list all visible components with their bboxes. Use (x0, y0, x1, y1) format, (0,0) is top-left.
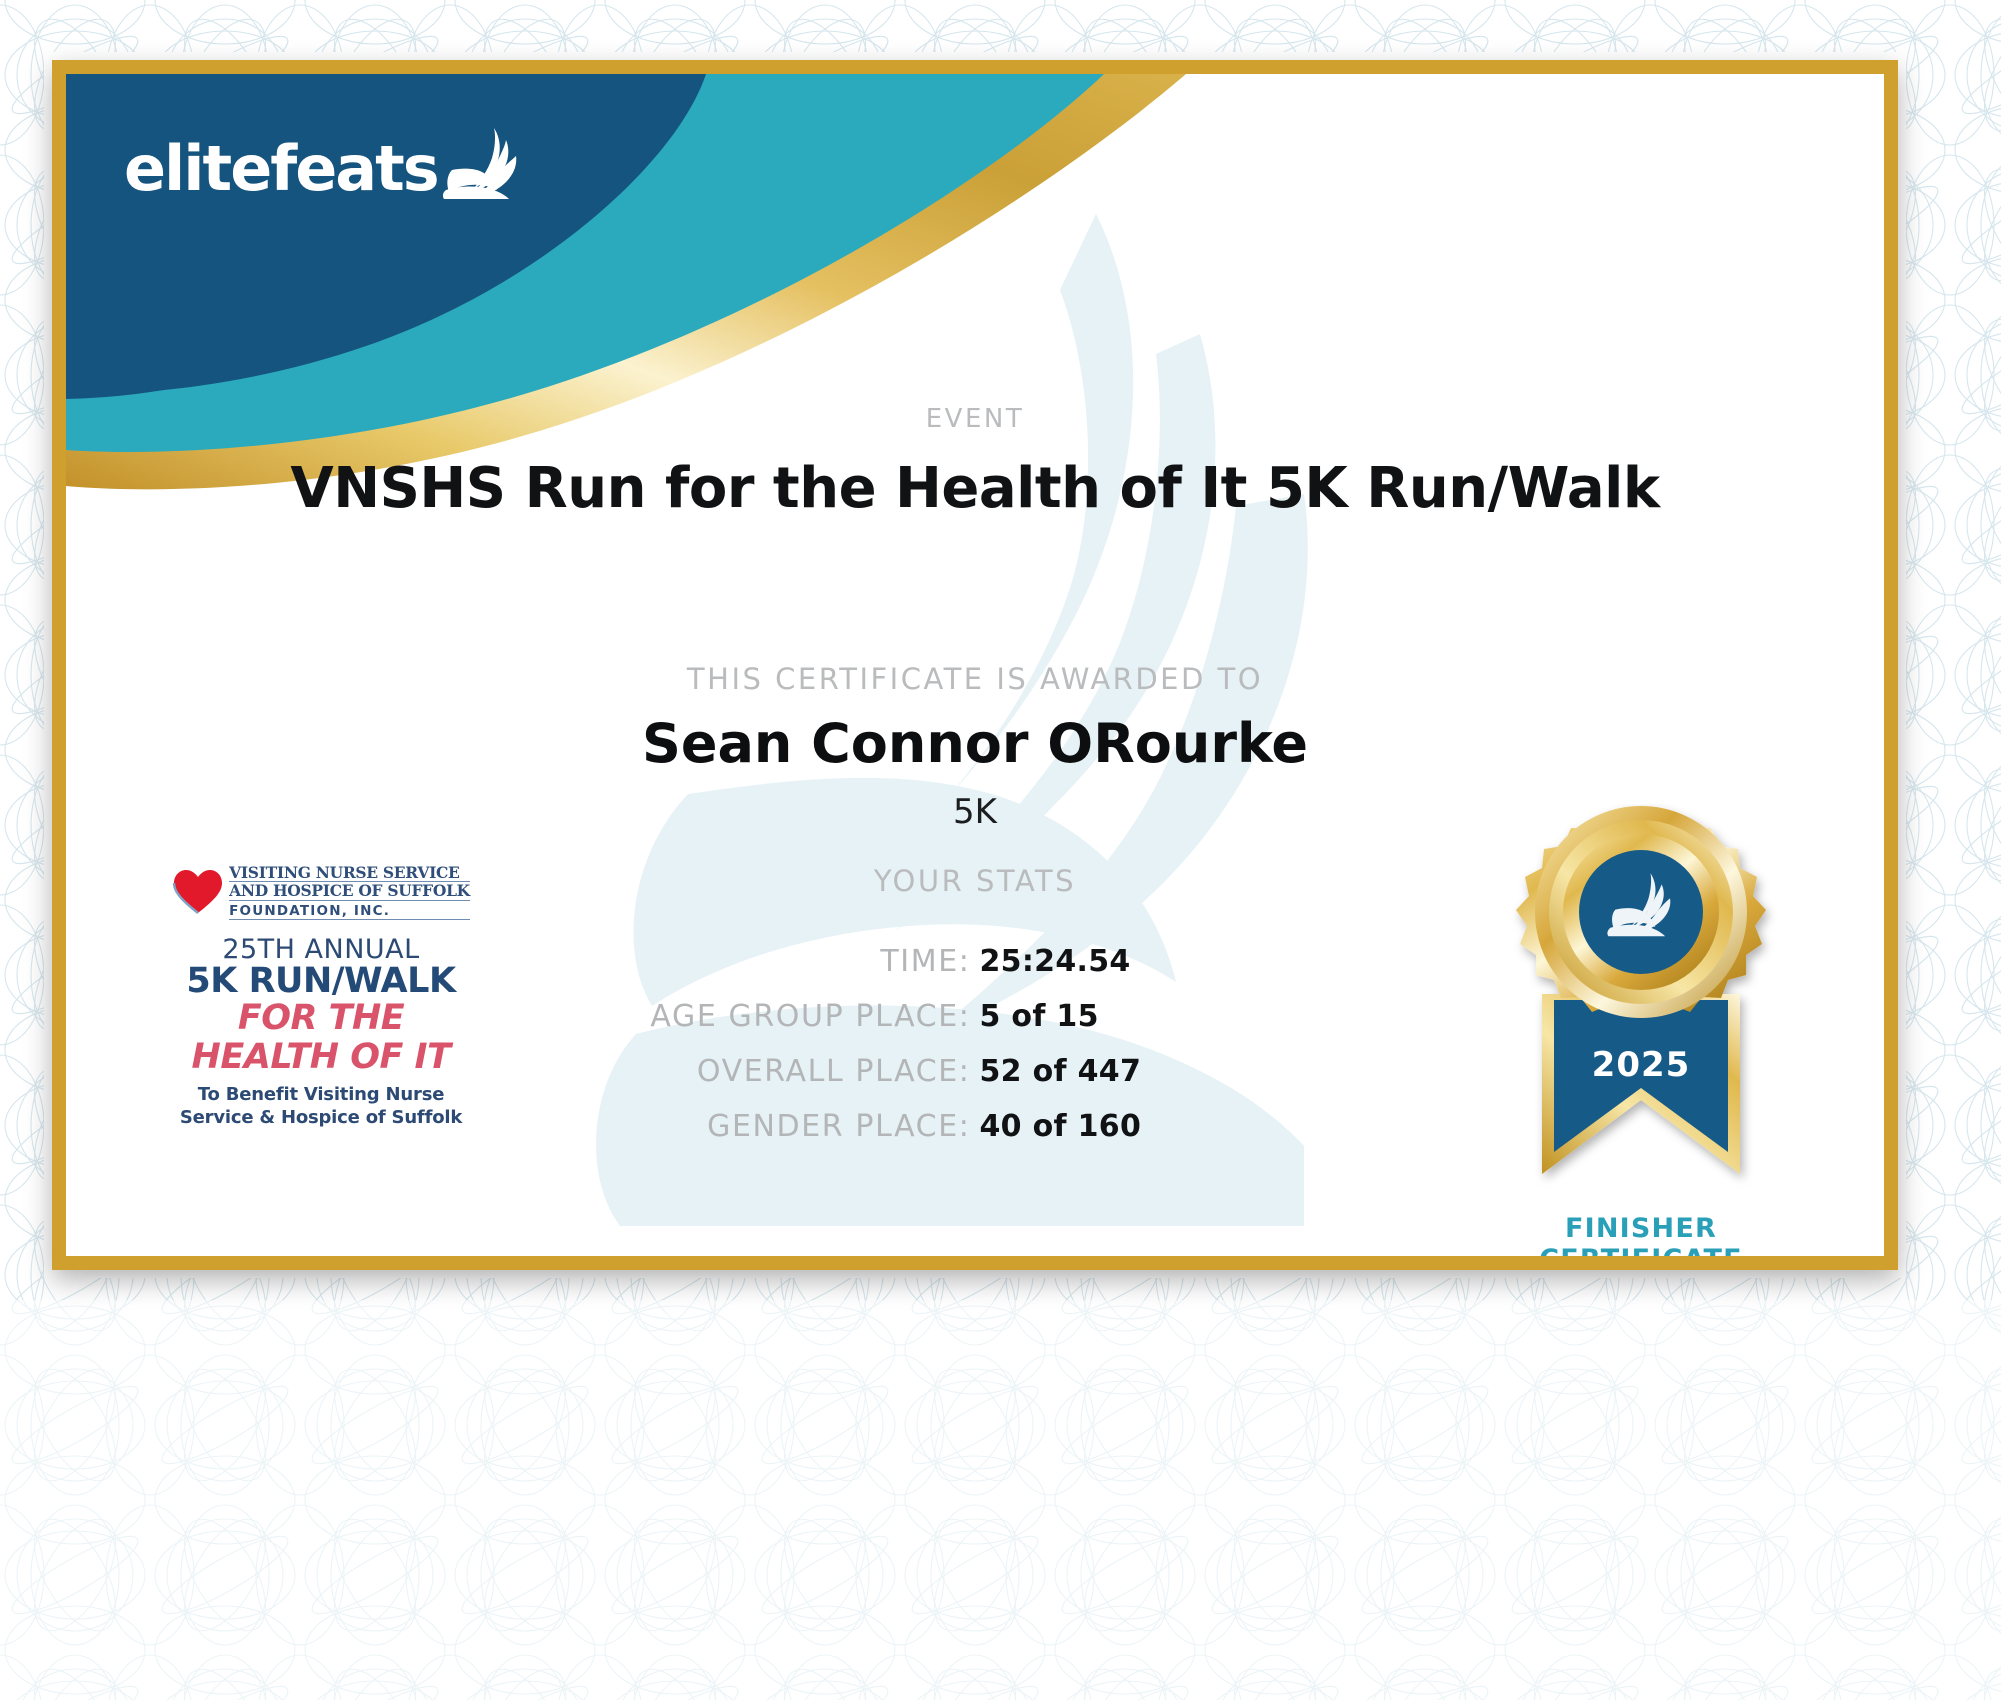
heart-icon (172, 869, 224, 915)
stat-label: TIME: (471, 944, 980, 979)
stat-value: 40 of 160 (980, 1109, 1480, 1144)
event-label: EVENT (66, 404, 1884, 434)
sponsor-logo: VISITING NURSE SERVICE AND HOSPICE OF SU… (166, 864, 476, 1129)
awarded-to-label: THIS CERTIFICATE IS AWARDED TO (66, 662, 1884, 696)
sponsor-org-line1: VISITING NURSE SERVICE (229, 864, 470, 882)
event-title: VNSHS Run for the Health of It 5K Run/Wa… (66, 456, 1884, 521)
certificate-gold-frame: elitefeats EVENT VNSHS Run for the Healt… (52, 60, 1898, 1270)
sponsor-tagline-2: HEALTH OF IT (166, 1038, 476, 1077)
sponsor-org-line2: AND HOSPICE OF SUFFOLK (229, 882, 470, 900)
medal-caption-line2: CERTIFICATE (1496, 1244, 1786, 1256)
sponsor-benefit-line2: Service & Hospice of Suffolk (166, 1107, 476, 1130)
sponsor-race: 5K RUN/WALK (166, 963, 476, 1000)
stat-value: 25:24.54 (980, 944, 1480, 979)
recipient-name: Sean Connor ORourke (66, 712, 1884, 775)
sponsor-annual: 25TH ANNUAL (166, 936, 476, 963)
sponsor-tagline-1: FOR THE (166, 999, 476, 1038)
stat-value: 52 of 447 (980, 1054, 1480, 1089)
medal-caption-line1: FINISHER (1496, 1213, 1786, 1244)
medal-ribbon-graphic: 2025 (1496, 804, 1786, 1204)
sponsor-org-lockup: VISITING NURSE SERVICE AND HOSPICE OF SU… (166, 864, 476, 920)
sponsor-org-line3: FOUNDATION, INC. (229, 901, 470, 920)
medal-caption: FINISHER CERTIFICATE (1496, 1213, 1786, 1256)
finisher-medal: 2025 FINISHER CERTIFICATE (1496, 804, 1786, 1256)
sponsor-benefit-line1: To Benefit Visiting Nurse (166, 1084, 476, 1107)
certificate-page: elitefeats EVENT VNSHS Run for the Healt… (0, 0, 2001, 1700)
stat-label: AGE GROUP PLACE: (471, 999, 980, 1034)
brand-wordmark: elitefeats (124, 138, 438, 200)
certificate-body: elitefeats EVENT VNSHS Run for the Healt… (66, 74, 1884, 1256)
medal-year-text: 2025 (1592, 1045, 1691, 1085)
elitefeats-logo: elitefeats (124, 126, 520, 200)
stat-label: GENDER PLACE: (471, 1109, 980, 1144)
stat-label: OVERALL PLACE: (471, 1054, 980, 1089)
winged-foot-icon (442, 126, 520, 200)
stat-value: 5 of 15 (980, 999, 1480, 1034)
